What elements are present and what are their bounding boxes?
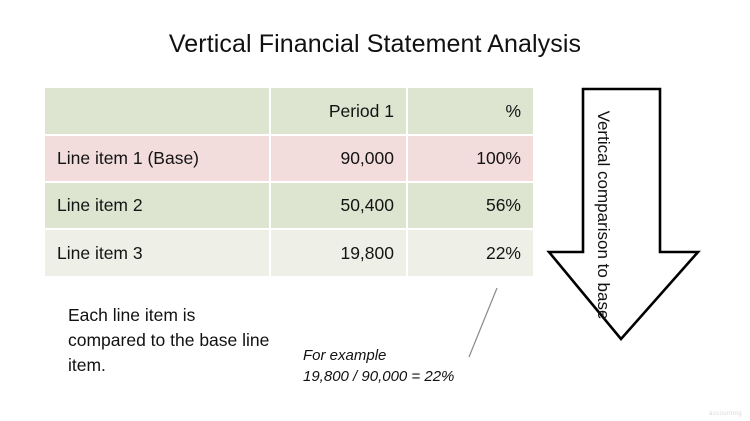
down-arrow-icon	[545, 86, 705, 344]
slide-canvas: Vertical Financial Statement Analysis Pe…	[0, 0, 750, 421]
row-value-percent-line-item-1: 100%	[407, 135, 533, 182]
example-note-line-2: 19,800 / 90,000 = 22%	[303, 366, 523, 387]
row-label-line-item-1: Line item 1 (Base)	[45, 135, 270, 182]
row-label-line-item-2: Line item 2	[45, 182, 270, 229]
row-value-period-1-line-item-1: 90,000	[270, 135, 407, 182]
header-cell-percent: %	[407, 88, 533, 135]
financial-statement-table: Period 1 % Line item 1 (Base) 90,000 100…	[45, 88, 533, 276]
page-title: Vertical Financial Statement Analysis	[0, 30, 750, 59]
table-header-row: Period 1 %	[45, 88, 533, 135]
vertical-comparison-arrow: Vertical comparison to base	[545, 86, 705, 344]
row-value-percent-line-item-2: 56%	[407, 182, 533, 229]
table-row: Line item 2 50,400 56%	[45, 182, 533, 229]
row-value-percent-line-item-3: 22%	[407, 229, 533, 276]
example-note: For example 19,800 / 90,000 = 22%	[303, 345, 523, 387]
table-row: Line item 1 (Base) 90,000 100%	[45, 135, 533, 182]
row-label-line-item-3: Line item 3	[45, 229, 270, 276]
header-cell-label	[45, 88, 270, 135]
header-cell-period-1: Period 1	[270, 88, 407, 135]
table-row: Line item 3 19,800 22%	[45, 229, 533, 276]
row-value-period-1-line-item-2: 50,400	[270, 182, 407, 229]
watermark: accounting	[709, 411, 742, 417]
caption-each-line-item: Each line item is compared to the base l…	[68, 303, 278, 378]
row-value-period-1-line-item-3: 19,800	[270, 229, 407, 276]
example-note-line-1: For example	[303, 345, 523, 366]
